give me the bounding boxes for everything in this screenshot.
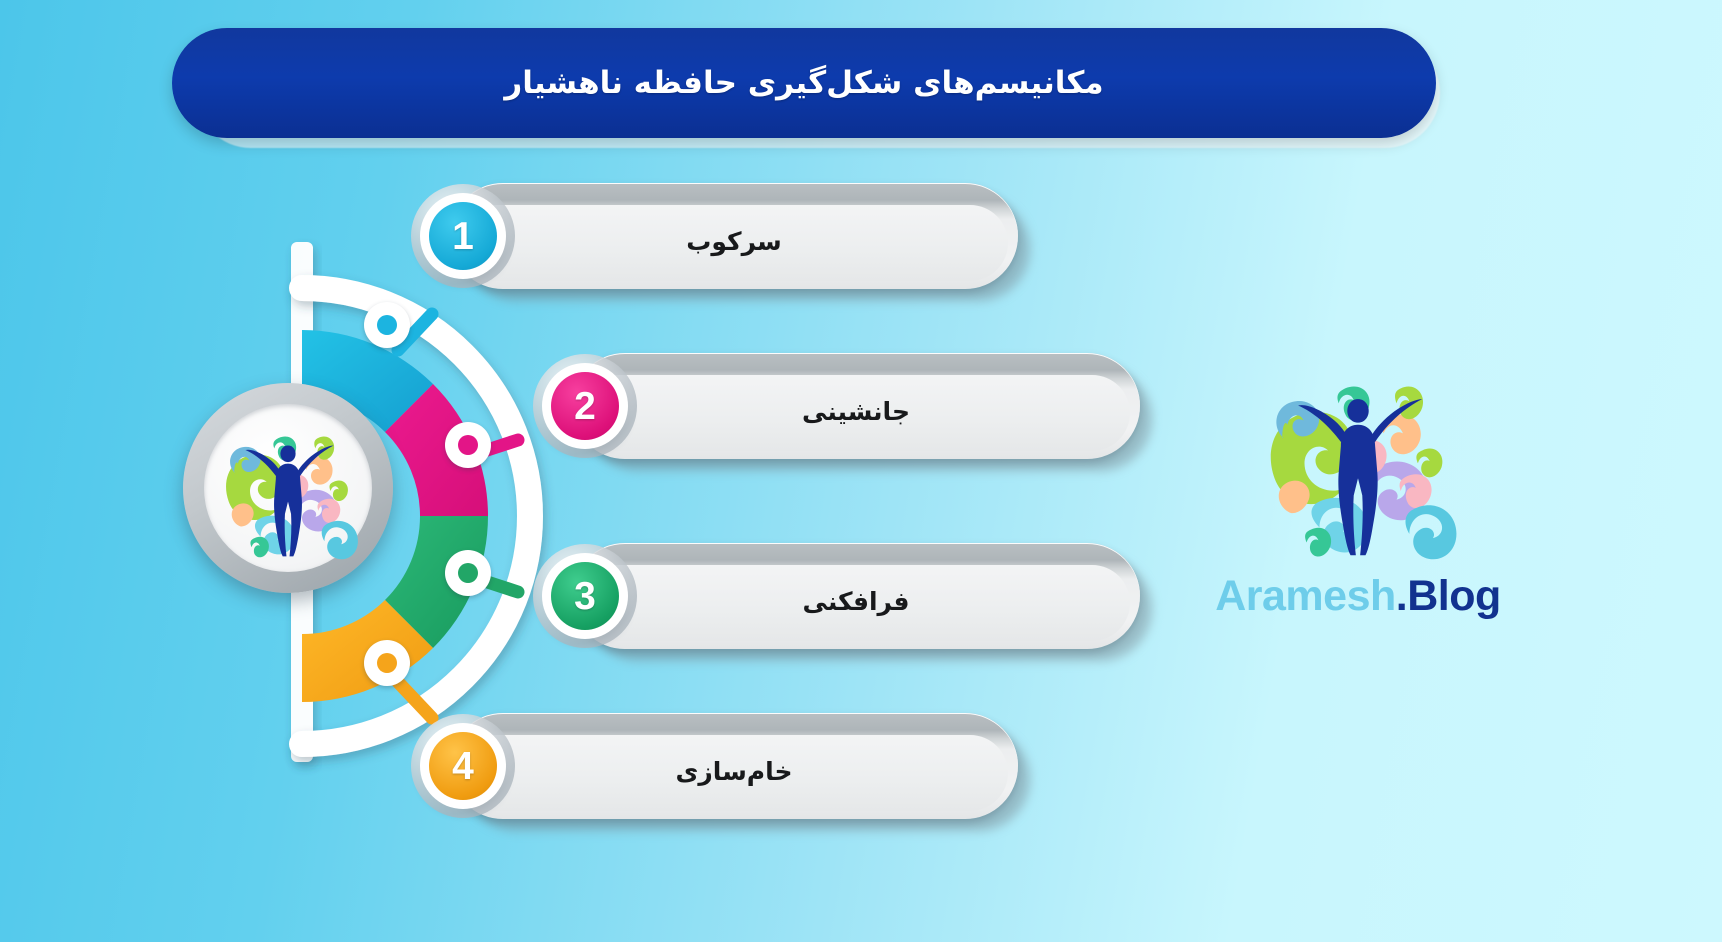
title-bar: مکانیسم‌های شکل‌گیری حافظه ناهشیار bbox=[172, 28, 1436, 138]
wheel-node-2[interactable] bbox=[445, 422, 491, 468]
wheel-node-3[interactable] bbox=[445, 550, 491, 596]
item-label-2: جانشینی bbox=[802, 397, 910, 426]
badge-number-1: 1 bbox=[452, 217, 474, 256]
brand-name-dark: .Blog bbox=[1396, 572, 1501, 620]
badge-number-4: 4 bbox=[452, 747, 474, 786]
list-item[interactable]: سرکوب bbox=[450, 183, 1018, 289]
number-badge-2[interactable]: 2 bbox=[542, 363, 628, 449]
badge-number-2: 2 bbox=[574, 387, 596, 426]
row-plate: جانشینی bbox=[572, 353, 1140, 459]
badge-number-3: 3 bbox=[574, 577, 596, 616]
row-plate: خام‌سازی bbox=[450, 713, 1018, 819]
item-label-1: سرکوب bbox=[686, 227, 781, 256]
wheel-node-4[interactable] bbox=[364, 640, 410, 686]
page-title: مکانیسم‌های شکل‌گیری حافظه ناهشیار bbox=[504, 65, 1103, 101]
brand-name-light: Aramesh bbox=[1215, 572, 1396, 620]
aramesh-person-flower-logo-icon bbox=[1251, 352, 1465, 566]
brand-logo bbox=[1251, 352, 1465, 566]
center-logo-inner bbox=[204, 404, 372, 572]
wheel-node-1[interactable] bbox=[364, 302, 410, 348]
center-logo-disc bbox=[183, 383, 393, 593]
number-badge-1[interactable]: 1 bbox=[420, 193, 506, 279]
aramesh-person-flower-logo-icon bbox=[212, 412, 364, 564]
infographic-canvas: مکانیسم‌های شکل‌گیری حافظه ناهشیار bbox=[0, 0, 1722, 942]
row-plate: فرافکنی bbox=[572, 543, 1140, 649]
item-label-3: فرافکنی bbox=[803, 587, 910, 616]
item-label-4: خام‌سازی bbox=[676, 757, 793, 786]
list-item[interactable]: جانشینی bbox=[572, 353, 1140, 459]
number-badge-4[interactable]: 4 bbox=[420, 723, 506, 809]
brand-name: Aramesh.Blog bbox=[1208, 572, 1508, 621]
number-badge-3[interactable]: 3 bbox=[542, 553, 628, 639]
list-item[interactable]: خام‌سازی bbox=[450, 713, 1018, 819]
row-plate: سرکوب bbox=[450, 183, 1018, 289]
brand-block[interactable]: Aramesh.Blog bbox=[1208, 352, 1508, 621]
list-item[interactable]: فرافکنی bbox=[572, 543, 1140, 649]
